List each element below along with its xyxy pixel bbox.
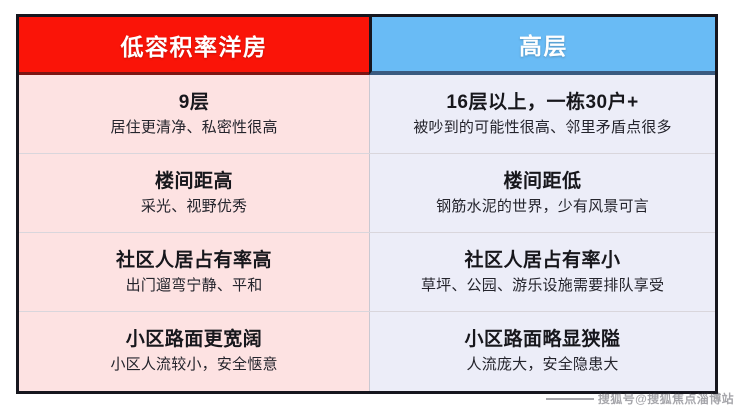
cell-left-row-1: 9层 居住更清净、私密性很高 xyxy=(19,75,369,153)
cell-right-row-2: 楼间距低 钢筋水泥的世界，少有风景可言 xyxy=(369,154,715,232)
cell-subtitle: 出门遛弯宁静、平和 xyxy=(126,276,263,296)
cell-title: 小区路面更宽阔 xyxy=(126,328,263,352)
cell-title: 楼间距高 xyxy=(155,170,233,194)
column-header-label-left: 低容积率洋房 xyxy=(121,28,268,62)
cell-title: 小区路面略显狭隘 xyxy=(465,328,621,352)
cell-right-row-1: 16层以上，一栋30户+ 被吵到的可能性很高、邻里矛盾点很多 xyxy=(369,75,715,153)
watermark-rule xyxy=(546,398,594,400)
cell-subtitle: 草坪、公园、游乐设施需要排队享受 xyxy=(421,276,664,296)
cell-left-row-4: 小区路面更宽阔 小区人流较小，安全惬意 xyxy=(19,312,369,391)
table-row: 小区路面更宽阔 小区人流较小，安全惬意 小区路面略显狭隘 人流庞大，安全隐患大 xyxy=(19,312,715,391)
cell-title: 16层以上，一栋30户+ xyxy=(446,91,638,115)
cell-subtitle: 钢筋水泥的世界，少有风景可言 xyxy=(436,197,649,217)
cell-subtitle: 小区人流较小，安全惬意 xyxy=(110,355,277,375)
cell-title: 楼间距低 xyxy=(504,170,582,194)
table-row: 楼间距高 采光、视野优秀 楼间距低 钢筋水泥的世界，少有风景可言 xyxy=(19,154,715,233)
table-body: 9层 居住更清净、私密性很高 16层以上，一栋30户+ 被吵到的可能性很高、邻里… xyxy=(19,75,715,391)
cell-left-row-2: 楼间距高 采光、视野优秀 xyxy=(19,154,369,232)
cell-subtitle: 被吵到的可能性很高、邻里矛盾点很多 xyxy=(413,118,671,138)
table-header-row: 低容积率洋房 高层 xyxy=(19,17,715,75)
cell-title: 社区人居占有率高 xyxy=(116,249,272,273)
column-header-low-plot-ratio-villa: 低容积率洋房 xyxy=(19,17,369,75)
cell-title: 社区人居占有率小 xyxy=(465,249,621,273)
cell-left-row-3: 社区人居占有率高 出门遛弯宁静、平和 xyxy=(19,233,369,311)
column-header-label-right: 高层 xyxy=(519,27,568,61)
column-header-high-rise: 高层 xyxy=(369,17,715,75)
cell-right-row-3: 社区人居占有率小 草坪、公园、游乐设施需要排队享受 xyxy=(369,233,715,311)
table-row: 9层 居住更清净、私密性很高 16层以上，一栋30户+ 被吵到的可能性很高、邻里… xyxy=(19,75,715,154)
cell-title: 9层 xyxy=(179,91,210,115)
table-row: 社区人居占有率高 出门遛弯宁静、平和 社区人居占有率小 草坪、公园、游乐设施需要… xyxy=(19,233,715,312)
cell-right-row-4: 小区路面略显狭隘 人流庞大，安全隐患大 xyxy=(369,312,715,391)
cell-subtitle: 采光、视野优秀 xyxy=(141,197,247,217)
comparison-table: 低容积率洋房 高层 9层 居住更清净、私密性很高 16层以上，一栋30户+ 被吵… xyxy=(16,14,718,394)
cell-subtitle: 居住更清净、私密性很高 xyxy=(110,118,277,138)
cell-subtitle: 人流庞大，安全隐患大 xyxy=(467,355,619,375)
